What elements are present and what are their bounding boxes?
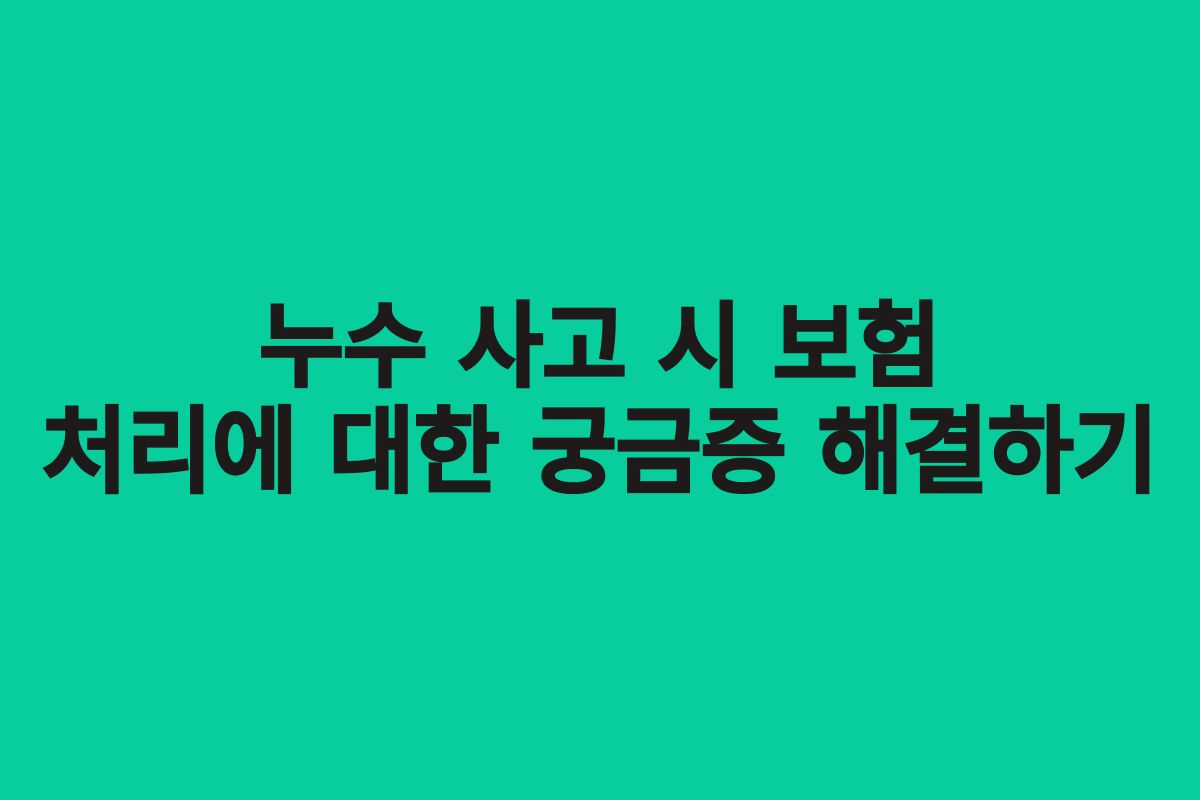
headline-block: 누수 사고 시 보험 처리에 대한 궁금증 해결하기 [0, 298, 1200, 502]
banner-canvas: 누수 사고 시 보험 처리에 대한 궁금증 해결하기 [0, 0, 1200, 800]
headline-line-2: 처리에 대한 궁금증 해결하기 [42, 403, 1158, 502]
headline-line-1: 누수 사고 시 보험 [259, 298, 941, 395]
